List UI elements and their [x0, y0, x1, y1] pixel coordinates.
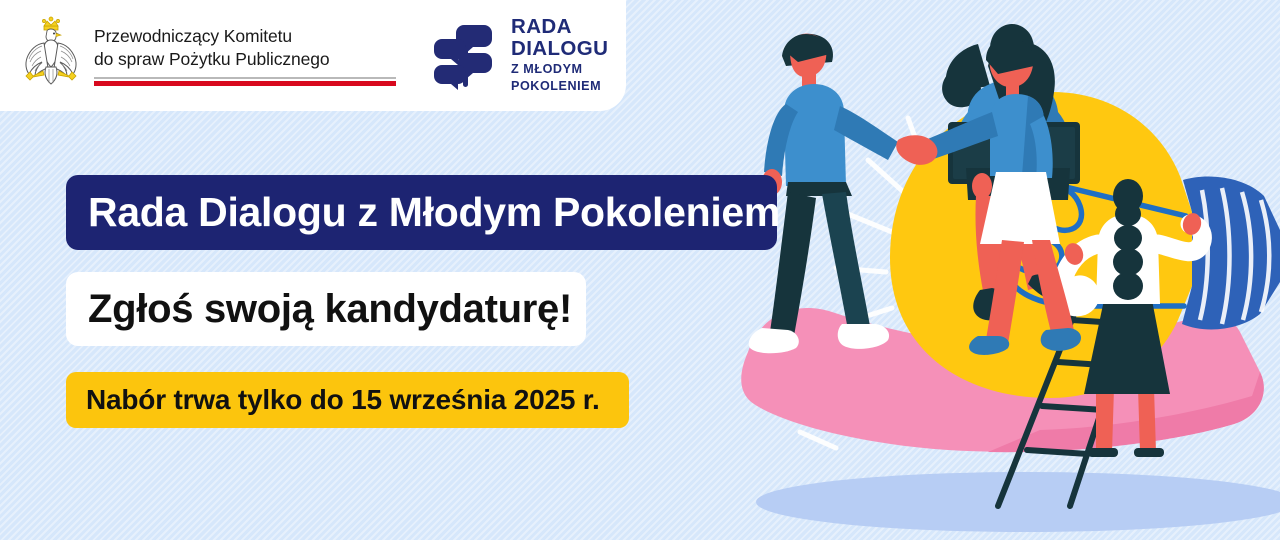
- grey-rule: [94, 77, 396, 79]
- promo-banner: Przewodniczący Komitetu do spraw Pożytku…: [0, 0, 1280, 540]
- red-rule: [94, 81, 396, 86]
- ministry-line-1: Przewodniczący Komitetu: [94, 25, 396, 48]
- logo-line-dialogu: DIALOGU: [511, 38, 608, 60]
- logo-line-zmlodym: Z MŁODYM: [511, 62, 608, 77]
- title-banner: Rada Dialogu z Młodym Pokoleniem: [66, 175, 777, 250]
- header-logo-bar: Przewodniczący Komitetu do spraw Pożytku…: [0, 0, 626, 111]
- polish-eagle-emblem-icon: [12, 14, 90, 96]
- logo-line-rada: RADA: [511, 16, 608, 38]
- flag-rule: [94, 77, 396, 86]
- deadline-text: Nabór trwa tylko do 15 września 2025 r.: [66, 384, 600, 416]
- logo-line-pokoleniem: POKOLENIEM: [511, 79, 608, 94]
- title-text: Rada Dialogu z Młodym Pokoleniem: [66, 189, 780, 236]
- rada-dialogu-logo: RADA DIALOGU Z MŁODYM POKOLENIEM: [428, 16, 608, 94]
- cta-text: Zgłoś swoją kandydaturę!: [66, 287, 572, 332]
- speech-bubble-plant-icon: [428, 19, 502, 93]
- rada-dialogu-wordmark: RADA DIALOGU Z MŁODYM POKOLENIEM: [511, 16, 608, 94]
- lightbulb-handshake-illustration: [740, 0, 1280, 540]
- ministry-line-2: do spraw Pożytku Publicznego: [94, 48, 396, 71]
- ministry-title-block: Przewodniczący Komitetu do spraw Pożytku…: [94, 25, 396, 86]
- cta-banner[interactable]: Zgłoś swoją kandydaturę!: [66, 272, 586, 346]
- deadline-banner: Nabór trwa tylko do 15 września 2025 r.: [66, 372, 629, 428]
